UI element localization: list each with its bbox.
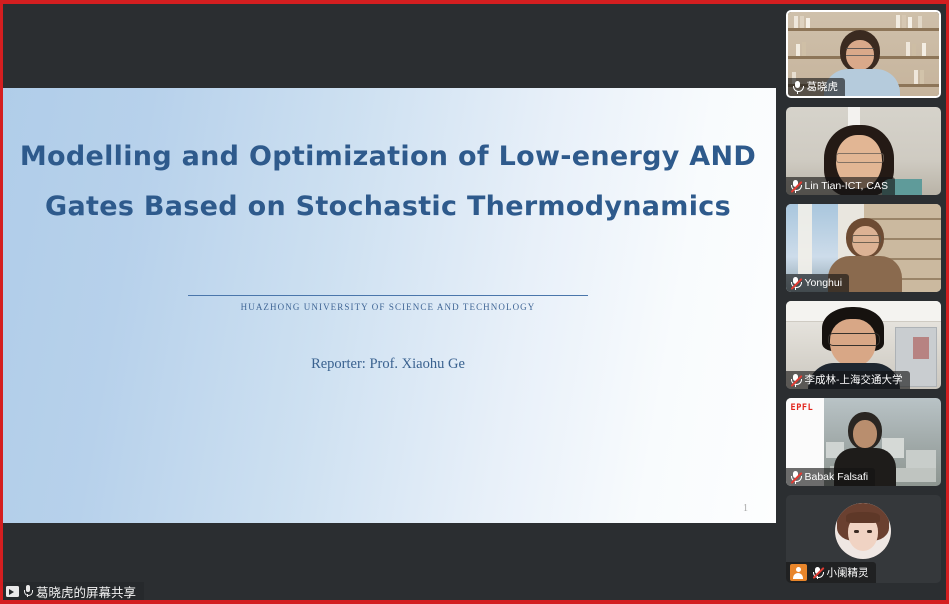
screen-share-border-left: [0, 0, 3, 604]
participant-tile-li-chenglin[interactable]: 李成林-上海交通大学: [786, 301, 941, 389]
participant-name: Lin Tian-ICT, CAS: [805, 179, 888, 193]
screen-share-icon: [6, 586, 19, 597]
participant-nametag: Yonghui: [786, 274, 850, 292]
participant-name: 小阑精灵: [827, 566, 869, 580]
slide-organization: HUAZHONG UNIVERSITY OF SCIENCE AND TECHN…: [0, 302, 776, 312]
avatar: [835, 503, 891, 559]
zoom-meeting-window: Modelling and Optimization of Low-energy…: [0, 0, 949, 604]
microphone-icon: [792, 80, 803, 94]
presentation-slide: Modelling and Optimization of Low-energy…: [0, 88, 776, 523]
slide-reporter: Reporter: Prof. Xiaohu Ge: [0, 356, 776, 373]
screen-share-border-top: [0, 0, 949, 4]
slide-title-line-1: Modelling and Optimization of Low-energy…: [0, 132, 776, 182]
participant-filmstrip[interactable]: 葛晓虎 Lin Tian-ICT, CAS: [780, 4, 946, 600]
participant-nametag: 葛晓虎: [788, 78, 846, 96]
microphone-muted-icon: [790, 276, 801, 290]
participant-nametag: 小阑精灵: [786, 562, 876, 583]
slide-divider-rule: [188, 295, 588, 296]
microphone-muted-icon: [790, 373, 801, 387]
screen-share-label: 葛晓虎的屏幕共享: [36, 582, 136, 601]
participant-nametag: Babak Falsafi: [786, 468, 876, 486]
microphone-muted-icon: [790, 179, 801, 193]
slide-title: Modelling and Optimization of Low-energy…: [0, 132, 776, 232]
slide-title-line-2: Gates Based on Stochastic Thermodynamics: [0, 182, 776, 232]
shared-content-stage[interactable]: Modelling and Optimization of Low-energy…: [0, 4, 780, 600]
participant-name: Yonghui: [805, 276, 843, 290]
participant-tile-ge-xiaohu[interactable]: 葛晓虎: [786, 10, 941, 98]
screen-share-status-bar[interactable]: 葛晓虎的屏幕共享: [3, 582, 144, 600]
participant-name: 李成林-上海交通大学: [805, 373, 903, 387]
participant-name: 葛晓虎: [807, 80, 839, 94]
participant-nametag: Lin Tian-ICT, CAS: [786, 177, 895, 195]
epfl-logo: EPFL: [791, 403, 814, 413]
screen-share-border-bottom: [0, 600, 949, 604]
participant-name: Babak Falsafi: [805, 470, 869, 484]
microphone-muted-icon: [790, 470, 801, 484]
microphone-icon: [23, 585, 32, 598]
participant-nametag: 李成林-上海交通大学: [786, 371, 910, 389]
slide-page-number: 1: [743, 503, 748, 514]
microphone-muted-icon: [812, 566, 823, 580]
participant-tile-lin-tian[interactable]: Lin Tian-ICT, CAS: [786, 107, 941, 195]
participant-tile-xiaolan-jingling[interactable]: 小阑精灵: [786, 495, 941, 583]
participant-tile-babak-falsafi[interactable]: EPFL Babak Falsafi: [786, 398, 941, 486]
user-avatar-icon: [790, 564, 807, 581]
participant-tile-yonghui[interactable]: Yonghui: [786, 204, 941, 292]
